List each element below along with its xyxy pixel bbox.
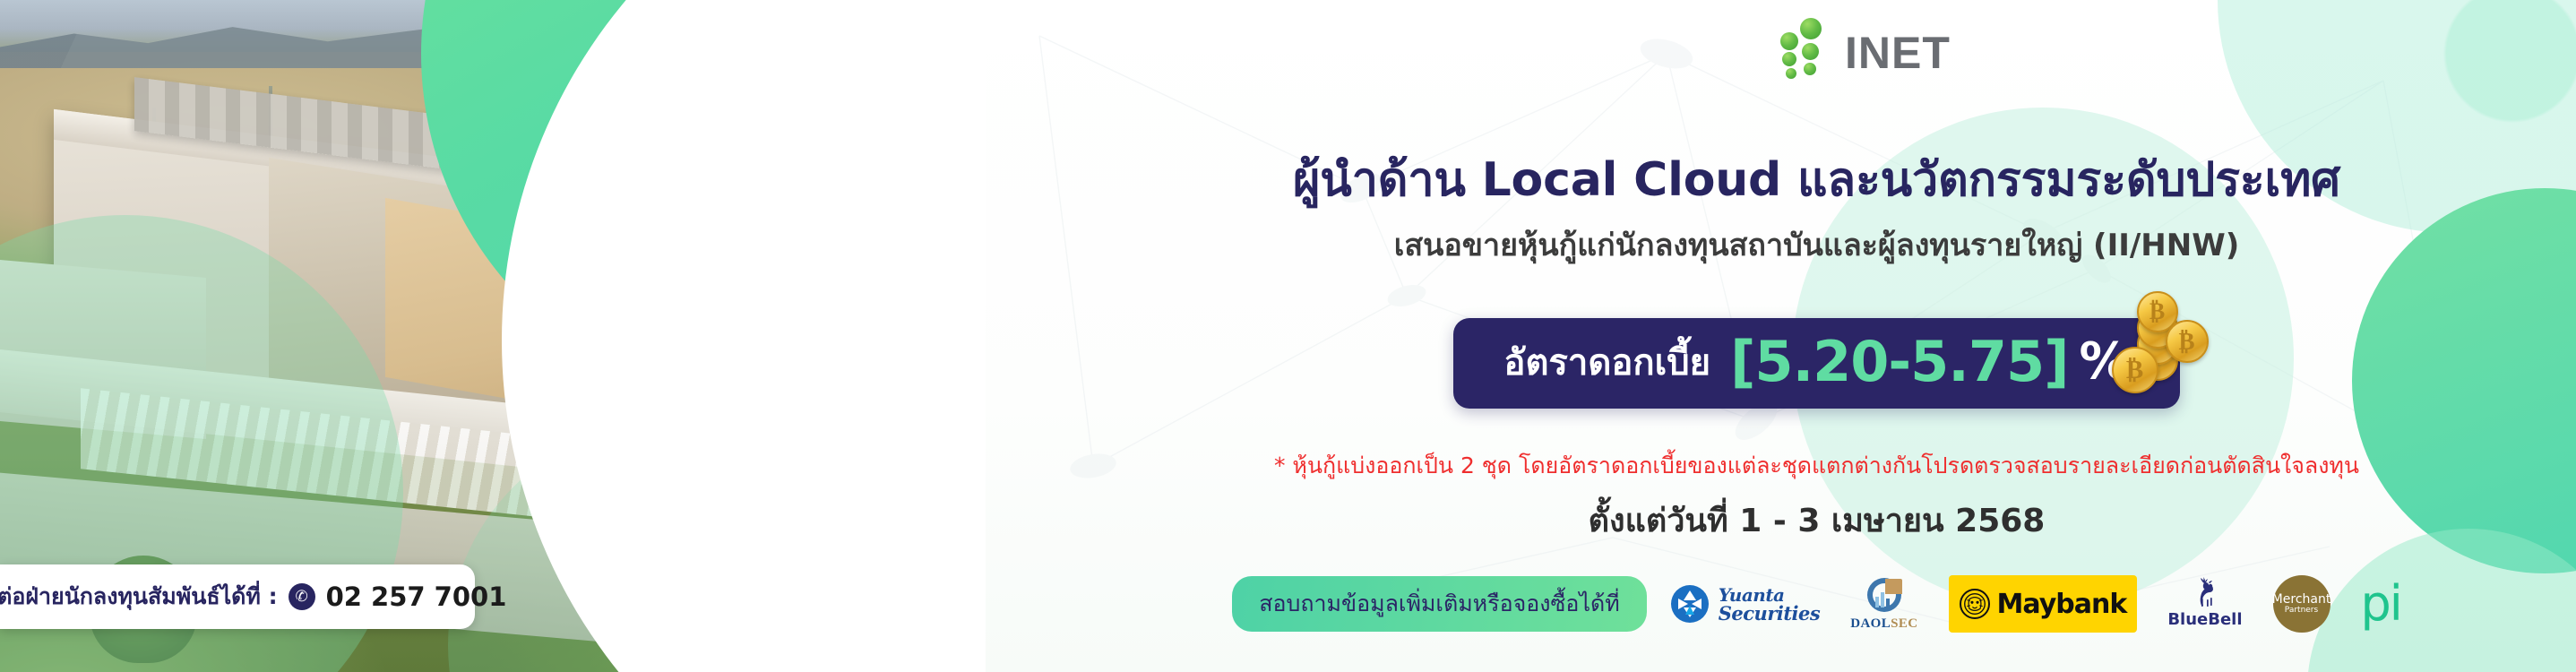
- interest-rate-box: อัตราดอกเบี้ย [5.20-5.75] % ₿ ₿ ₿: [1453, 318, 2179, 409]
- partner-logo-pi[interactable]: pi: [2361, 575, 2401, 633]
- disclaimer-text: * หุ้นกู้แบ่งออกเป็น 2 ชุด โดยอัตราดอกเบ…: [1057, 448, 2576, 484]
- contact-label: ติดต่อฝ่ายนักลงทุนสัมพันธ์ได้ที่ :: [0, 579, 278, 615]
- inet-promo-banner: INET ผู้นำด้าน Local Cloud และนวัตกรรมระ…: [0, 0, 2576, 672]
- merchant-name-line1: Merchant: [2272, 593, 2331, 607]
- partner-logo-bluebell[interactable]: BlueBell: [2167, 575, 2242, 633]
- interest-rate-section: อัตราดอกเบี้ย [5.20-5.75] % ₿ ₿ ₿: [1057, 318, 2576, 409]
- bluebell-wordmark: BlueBell: [2167, 610, 2242, 629]
- bluebell-deer-icon: [2187, 575, 2223, 609]
- daol-name-bold: DAOL: [1850, 616, 1891, 631]
- coin-left: ₿: [2112, 347, 2158, 393]
- offering-dates: ตั้งแต่วันที่ 1 - 3 เมษายน 2568: [1057, 495, 2576, 546]
- yuanta-wordmark: Yuanta Securities: [1719, 586, 1820, 623]
- gold-coins-icon: ₿ ₿ ₿: [2110, 288, 2218, 402]
- yuanta-star-icon: [1670, 584, 1710, 624]
- maybank-tiger-icon: [1960, 589, 1990, 619]
- investor-relations-contact: ติดต่อฝ่ายนักลงทุนสัมพันธ์ได้ที่ : ✆ 02 …: [0, 564, 475, 629]
- daol-wordmark: DAOLSEC: [1850, 616, 1917, 632]
- daol-name-light: SEC: [1891, 616, 1917, 631]
- phone-icon: ✆: [289, 583, 315, 610]
- partner-logo-yuanta[interactable]: Yuanta Securities: [1670, 575, 1820, 633]
- merchant-name-line2: Partners: [2285, 607, 2318, 615]
- interest-rate-label: อัตราดอกเบี้ย: [1503, 333, 1710, 391]
- subheadline: เสนอขายหุ้นกู้แก่นักลงทุนสถาบันและผู้ลงท…: [1057, 220, 2576, 269]
- bluebell-name: BlueBell: [2167, 610, 2242, 629]
- daol-circle-icon: [1865, 575, 1904, 615]
- partner-logo-daol[interactable]: DAOLSEC: [1850, 575, 1917, 633]
- yuanta-name-line1: Yuanta: [1719, 586, 1820, 604]
- inquire-button[interactable]: สอบถามข้อมูลเพิ่มเติมหรือจองซื้อได้ที่: [1232, 576, 1647, 632]
- maybank-wordmark: Maybank: [1997, 589, 2127, 620]
- coin-right: ₿: [2166, 320, 2209, 363]
- partner-logo-maybank[interactable]: Maybank: [1949, 575, 2138, 633]
- page-title: ผู้นำด้าน Local Cloud และนวัตกรรมระดับปร…: [1057, 142, 2576, 216]
- marketing-copy-column: ผู้นำด้าน Local Cloud และนวัตกรรมระดับปร…: [1057, 0, 2576, 672]
- partner-logos: Yuanta Securities DAOLSEC: [1670, 575, 2401, 633]
- contact-phone-number[interactable]: 02 257 7001: [326, 582, 507, 612]
- white-curve-mask: [502, 0, 1057, 672]
- cta-and-partners-row: สอบถามข้อมูลเพิ่มเติมหรือจองซื้อได้ที่ Y…: [1057, 575, 2576, 633]
- interest-rate-value: [5.20-5.75]: [1730, 329, 2068, 394]
- yuanta-name-line2: Securities: [1719, 604, 1820, 623]
- partner-logo-merchant-partners[interactable]: Merchant Partners: [2273, 575, 2330, 633]
